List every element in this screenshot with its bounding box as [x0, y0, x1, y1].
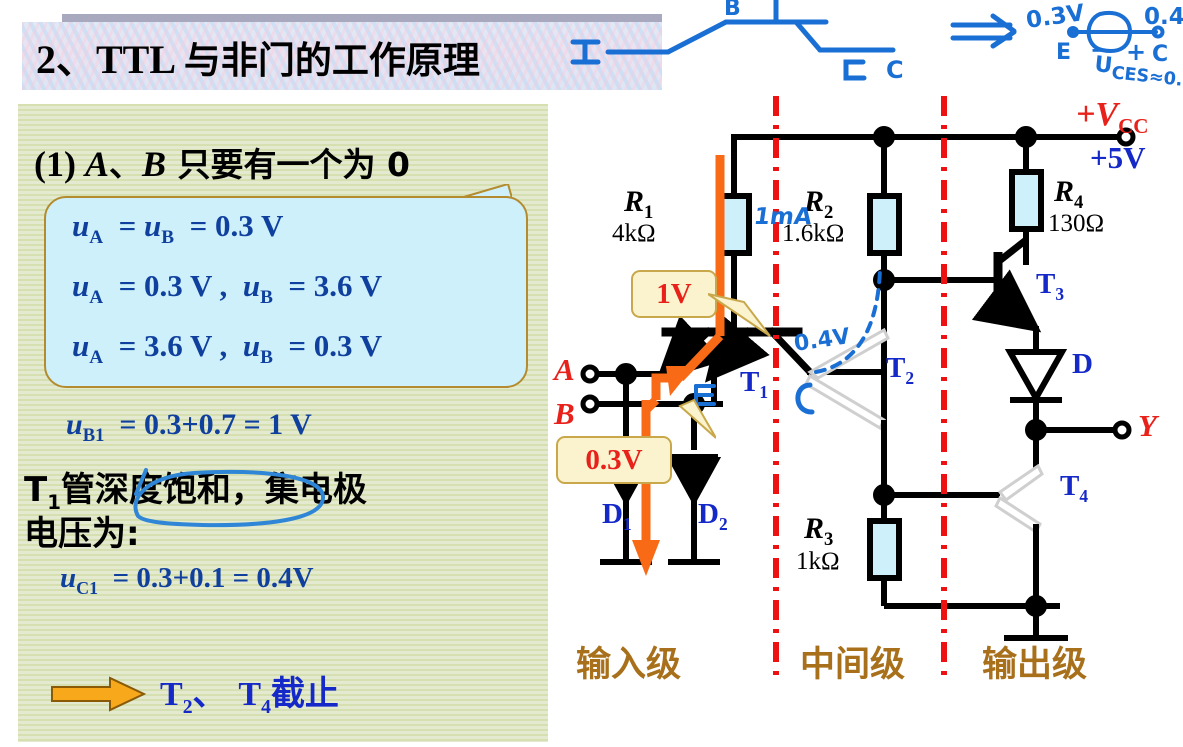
output-node-wires [1028, 422, 1129, 470]
resistor-r3-label: R3 [804, 512, 833, 551]
stage-label-output: 输出级 [982, 636, 1087, 687]
heading-input-b: B [142, 144, 166, 184]
top-annotation-label-c: C [886, 56, 904, 84]
hand-annotation-0p4v-pointer-icon [816, 268, 880, 372]
top-annotation-label-b: B [724, 0, 741, 21]
callout-0p3v-tail [640, 396, 716, 450]
vcc-value-label: +5V [1090, 140, 1146, 176]
resistor-r3-value: 1kΩ [796, 548, 840, 576]
right-arrow-icon [50, 676, 146, 712]
heading-input-a: A [85, 144, 109, 184]
title-number: 2、 [36, 37, 96, 82]
equation-ub1-rhs: = 0.3+0.7 = 1 V [119, 408, 311, 441]
diode-d1-label: D1 [602, 498, 632, 535]
transistor-t3-symbol [954, 228, 1030, 324]
t4-wires-and-ground [1004, 524, 1068, 638]
resistor-r2-symbol [870, 196, 899, 253]
transistor-t1-label: T1 [740, 366, 768, 403]
resistor-r4-value: 130Ω [1048, 210, 1104, 238]
heading-rest: 只要有一个为 0 [166, 145, 410, 184]
hand-circle-annotation-icon [124, 468, 330, 530]
resistor-r4-symbol [1012, 172, 1041, 229]
heading-index: (1) [34, 144, 85, 184]
resistor-r1-value: 4kΩ [612, 220, 656, 248]
input-terminal-b-label: B [554, 396, 575, 432]
callout-1v: 1V [631, 270, 717, 318]
equation-case-3: uA = 3.6 V , uB = 0.3 V [72, 328, 382, 369]
transistor-t3-label: T3 [1036, 268, 1064, 305]
equation-case-1: uA = uB = 0.3 V [72, 208, 283, 249]
implies-arrow-icon [953, 16, 1014, 46]
paragraph-part-a: 管 [61, 470, 95, 510]
page-title: 2、TTL 与非门的工作原理 [22, 27, 480, 85]
equation-uc1-rhs: = 0.3+0.1 = 0.4V [113, 562, 314, 594]
equation-uc1: uC1 = 0.3+0.1 = 0.4V [60, 562, 314, 599]
ttl-nand-circuit-diagram: R1 4kΩ R2 1.6kΩ R3 1kΩ R4 130Ω T1 T2 T3 … [548, 0, 1183, 742]
resistor-r4-label: R4 [1054, 175, 1083, 214]
t2-emitter-wire [876, 420, 1060, 606]
hand-annotation-collector-c-icon [798, 385, 812, 412]
vcc-label: +VCC [1076, 96, 1149, 139]
heading-separator: 、 [109, 145, 142, 184]
top-annotation-node-e: E [1056, 40, 1071, 65]
paragraph-part-c: 电压为: [24, 514, 140, 554]
stage-label-input: 输入级 [576, 636, 681, 687]
conclusion-text: T2、 T4截止 [160, 666, 339, 719]
title-latin: TTL [96, 37, 184, 82]
hand-annotation-current-1ma: 1mA [752, 204, 813, 230]
title-chinese: 与非门的工作原理 [184, 39, 480, 82]
equation-case-2: uA = 0.3 V , uB = 3.6 V [72, 268, 382, 309]
paragraph-t1: T1 [24, 470, 61, 510]
transistor-t2-label: T2 [886, 352, 914, 389]
callout-1v-tail [708, 290, 778, 346]
output-terminal-y-label: Y [1138, 408, 1157, 444]
transistor-t4-label: T4 [1060, 470, 1088, 507]
transistor-t4-symbol [996, 466, 1042, 532]
diode-d-label: D [1072, 348, 1093, 381]
input-terminal-a-label: A [554, 352, 575, 388]
resistor-r1-label: R1 [624, 185, 653, 224]
stage-label-middle: 中间级 [800, 636, 905, 687]
top-annotation-v-right: 0.4V [1144, 4, 1183, 30]
resistor-r3-symbol [870, 521, 899, 578]
equation-ub1: uB1 = 0.3+0.7 = 1 V [66, 408, 312, 447]
heading-line: (1) A、B 只要有一个为 0 [34, 138, 410, 186]
diode-d2-label: D2 [698, 498, 728, 535]
